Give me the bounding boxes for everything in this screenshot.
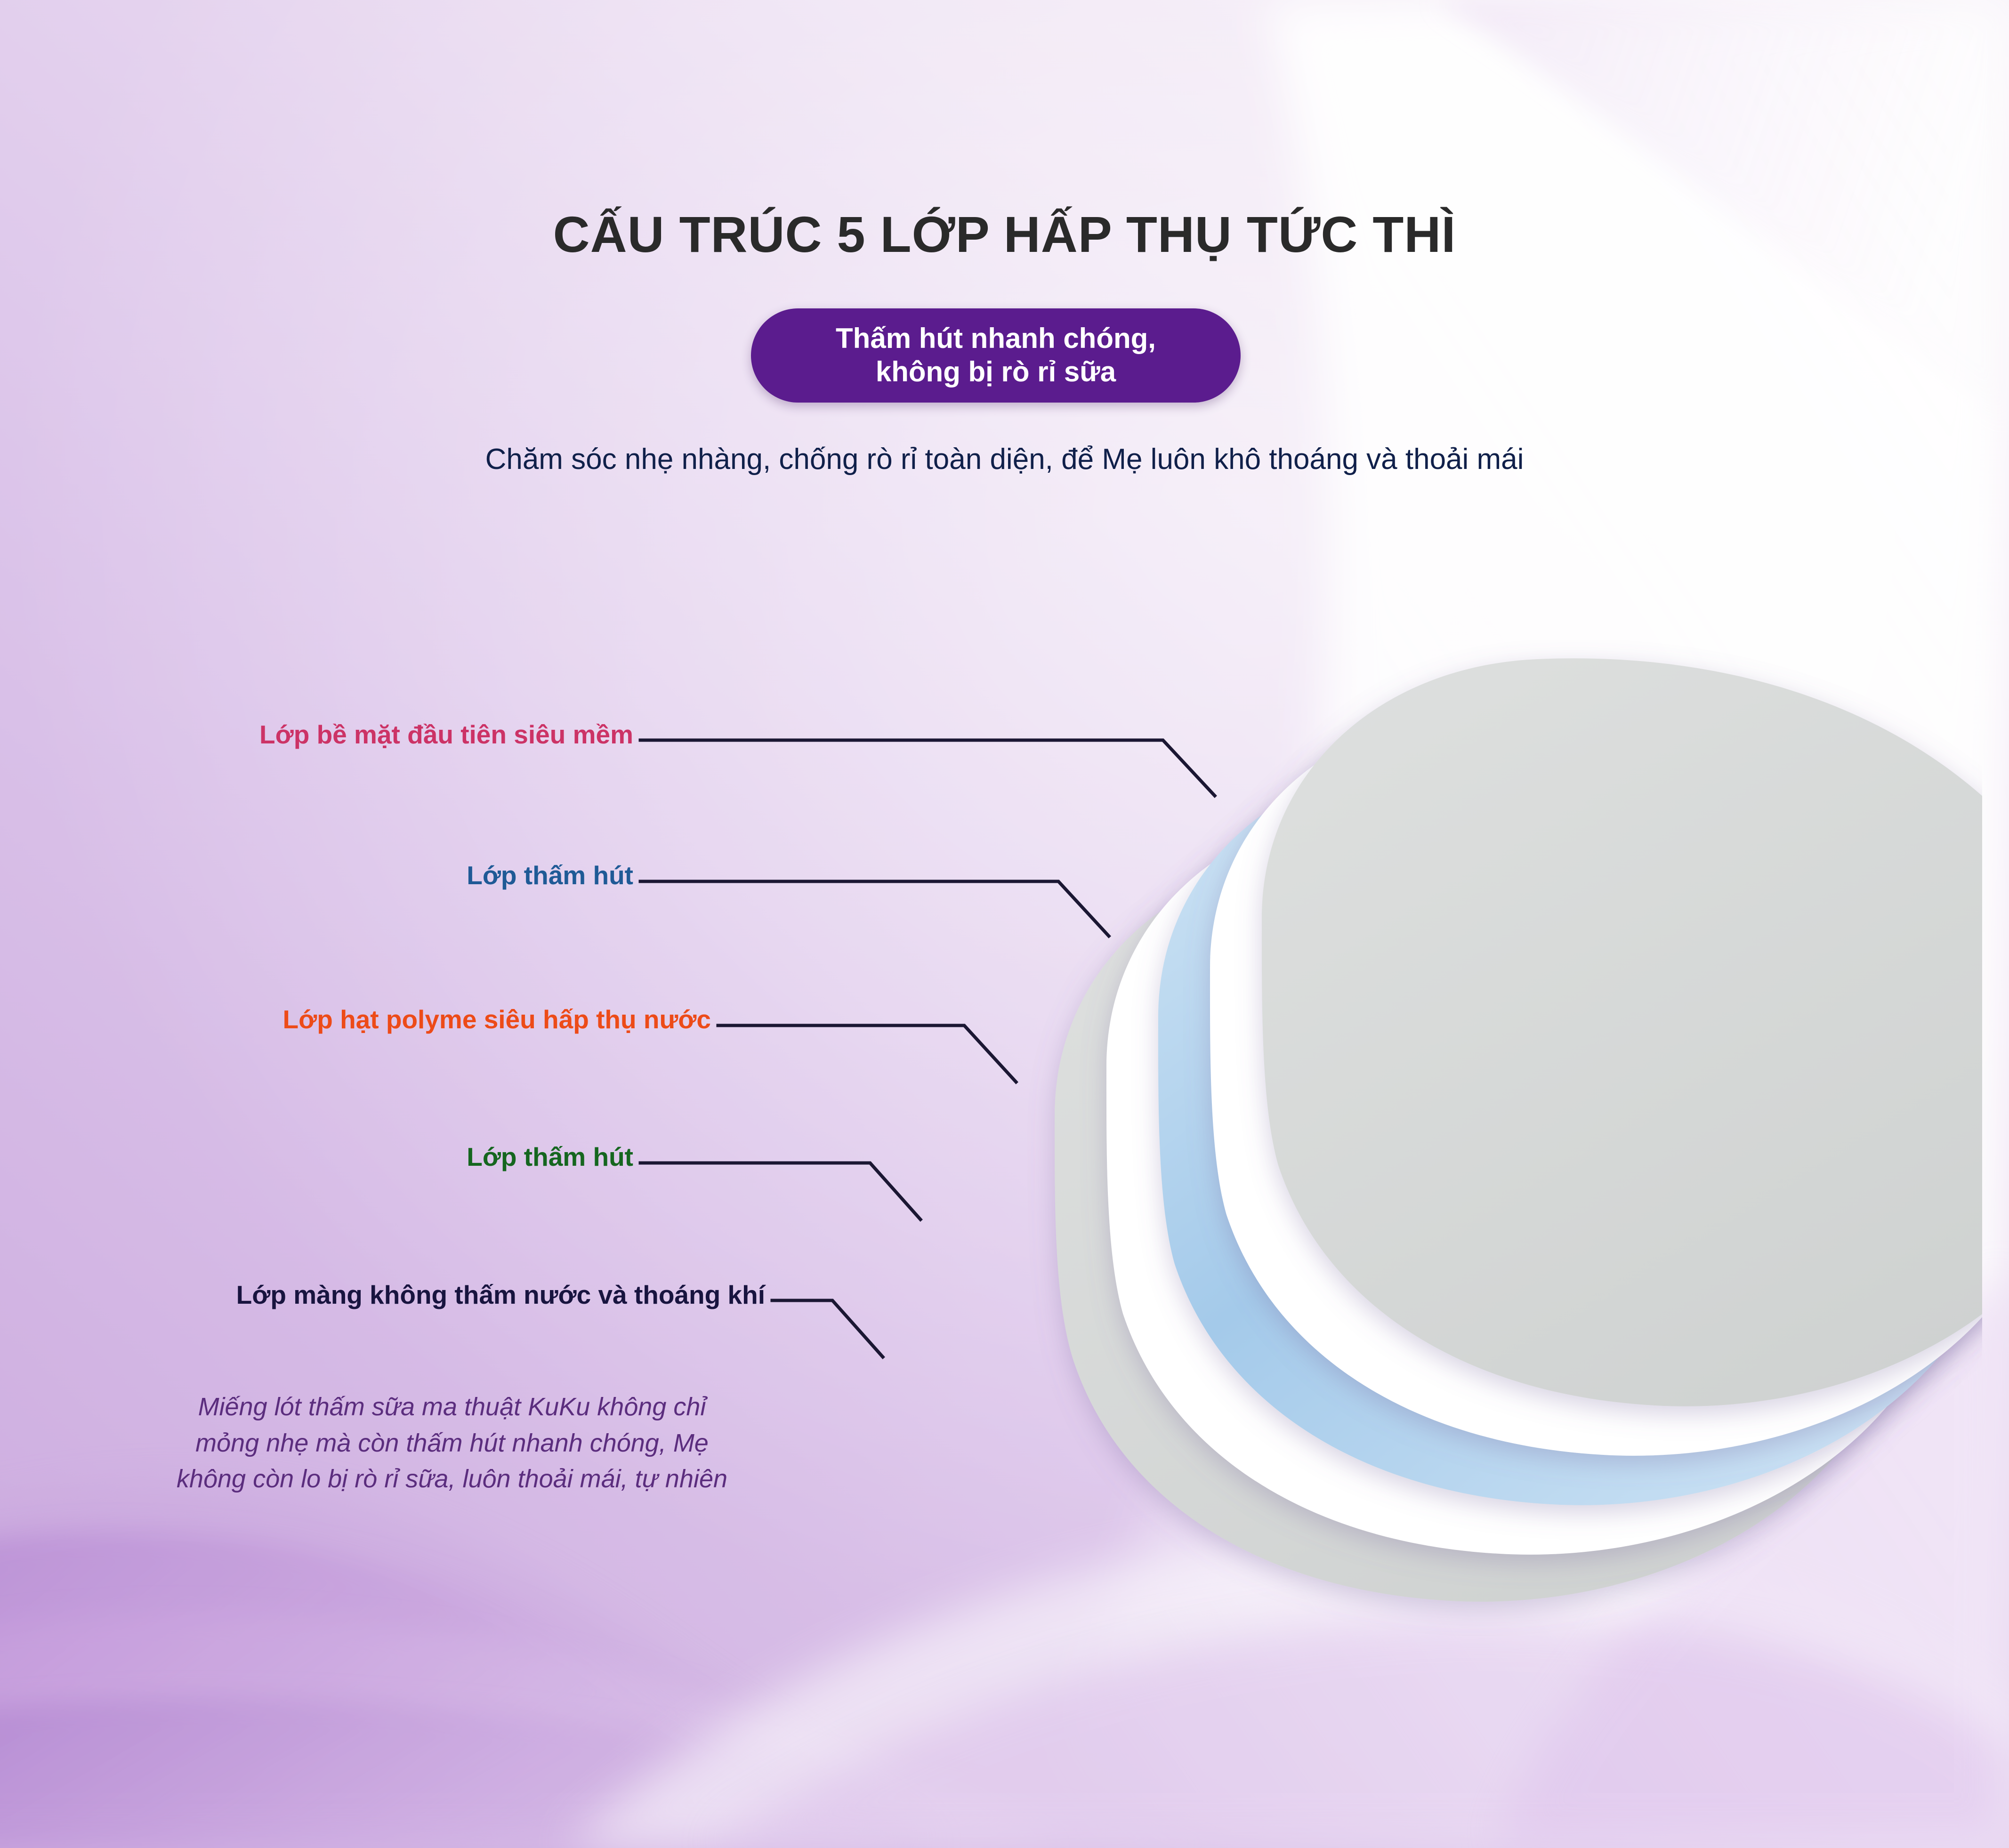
layer-label-polymer: Lớp hạt polyme siêu hấp thụ nước	[0, 1004, 711, 1034]
product-description-note: Miếng lót thấm sữa ma thuật KuKu không c…	[47, 1389, 857, 1497]
highlight-badge: Thấm hút nhanh chóng, không bị rò rỉ sữa	[751, 308, 1241, 403]
page-title: CẤU TRÚC 5 LỚP HẤP THỤ TỨC THÌ	[0, 205, 2009, 264]
layer-label-absorbent-bottom: Lớp thấm hút	[0, 1142, 633, 1172]
layer-label-surface: Lớp bề mặt đầu tiên siêu mềm	[0, 719, 633, 750]
layer-label-absorbent-top: Lớp thấm hút	[0, 860, 633, 890]
highlight-badge-label: Thấm hút nhanh chóng, không bị rò rỉ sữa	[836, 322, 1156, 389]
page-subtitle: Chăm sóc nhẹ nhàng, chống rò rỉ toàn diệ…	[0, 443, 2009, 476]
layer-label-waterproof-film: Lớp màng không thấm nước và thoáng khí	[0, 1280, 765, 1310]
